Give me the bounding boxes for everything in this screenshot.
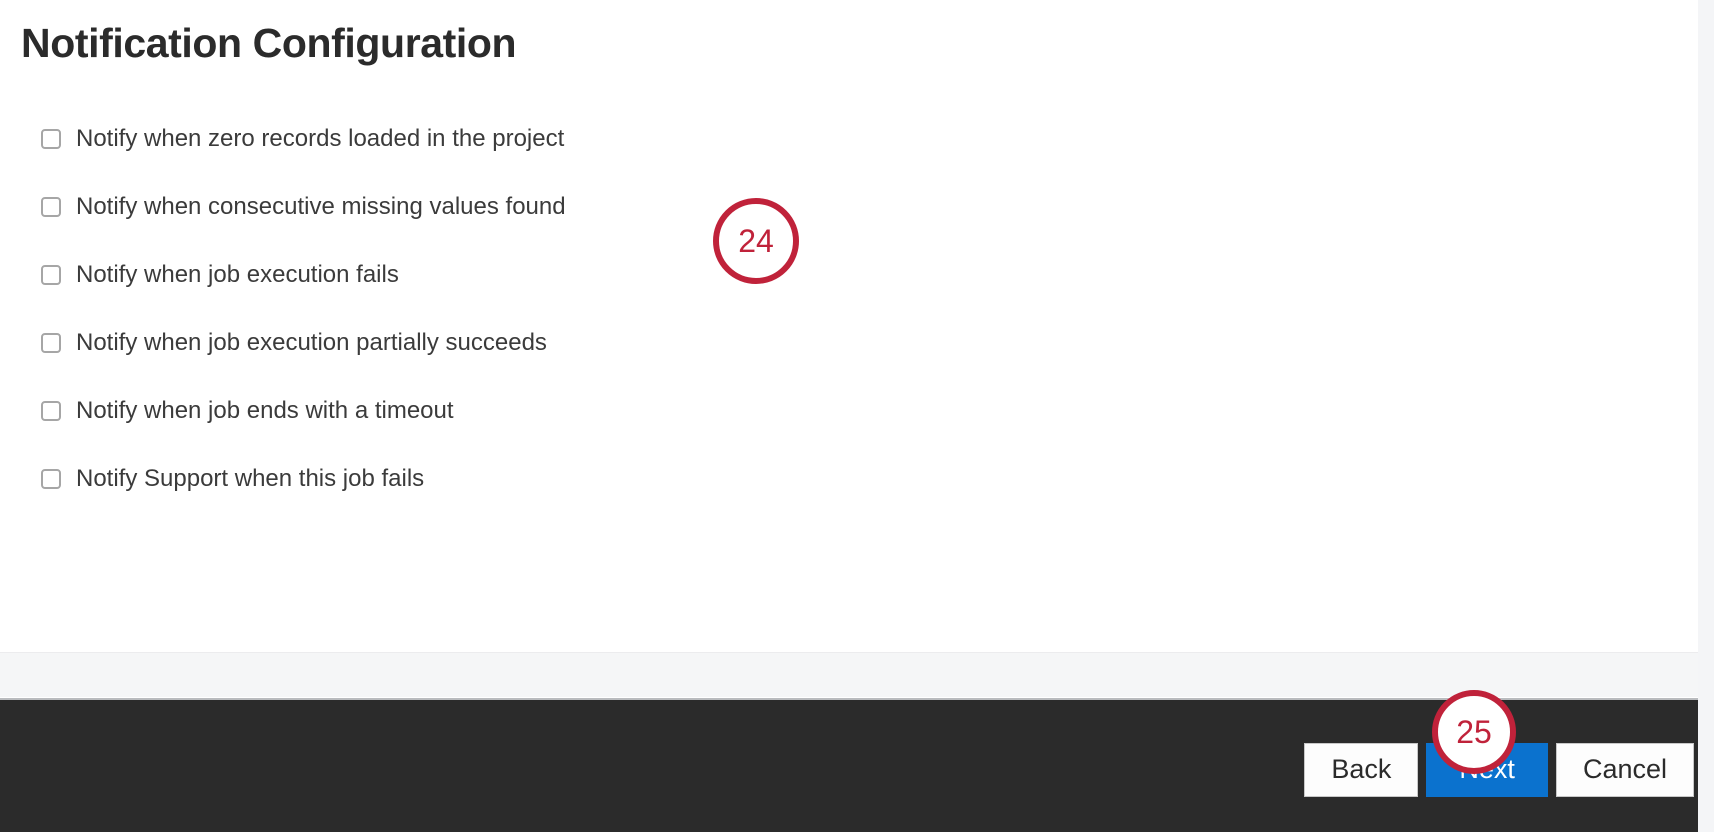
notification-options-list: Notify when zero records loaded in the p… [41, 127, 1241, 491]
checkbox-zero-records[interactable] [41, 129, 61, 149]
back-button[interactable]: Back [1304, 743, 1418, 797]
vertical-scrollbar-track[interactable] [1698, 0, 1714, 832]
checkbox-row-execution-fails[interactable]: Notify when job execution fails [41, 263, 1241, 287]
page-title: Notification Configuration [21, 22, 516, 65]
checkbox-timeout[interactable] [41, 401, 61, 421]
checkbox-row-notify-support[interactable]: Notify Support when this job fails [41, 467, 1241, 491]
checkbox-notify-support[interactable] [41, 469, 61, 489]
checkbox-label-notify-support: Notify Support when this job fails [76, 467, 424, 491]
wizard-page: Notification Configuration Notify when z… [0, 0, 1714, 832]
checkbox-row-zero-records[interactable]: Notify when zero records loaded in the p… [41, 127, 1241, 151]
checkbox-partially-succeeds[interactable] [41, 333, 61, 353]
footer-divider-strip [0, 652, 1698, 697]
checkbox-missing-values[interactable] [41, 197, 61, 217]
cancel-button[interactable]: Cancel [1556, 743, 1694, 797]
notification-configuration-panel: Notification Configuration Notify when z… [0, 0, 1698, 652]
checkbox-execution-fails[interactable] [41, 265, 61, 285]
checkbox-row-timeout[interactable]: Notify when job ends with a timeout [41, 399, 1241, 423]
annotation-marker-24: 24 [713, 198, 799, 284]
checkbox-label-zero-records: Notify when zero records loaded in the p… [76, 127, 564, 151]
checkbox-row-missing-values[interactable]: Notify when consecutive missing values f… [41, 195, 1241, 219]
checkbox-label-execution-fails: Notify when job execution fails [76, 263, 399, 287]
checkbox-row-partially-succeeds[interactable]: Notify when job execution partially succ… [41, 331, 1241, 355]
checkbox-label-partially-succeeds: Notify when job execution partially succ… [76, 331, 547, 355]
checkbox-label-timeout: Notify when job ends with a timeout [76, 399, 454, 423]
checkbox-label-missing-values: Notify when consecutive missing values f… [76, 195, 566, 219]
annotation-marker-25: 25 [1432, 690, 1516, 774]
